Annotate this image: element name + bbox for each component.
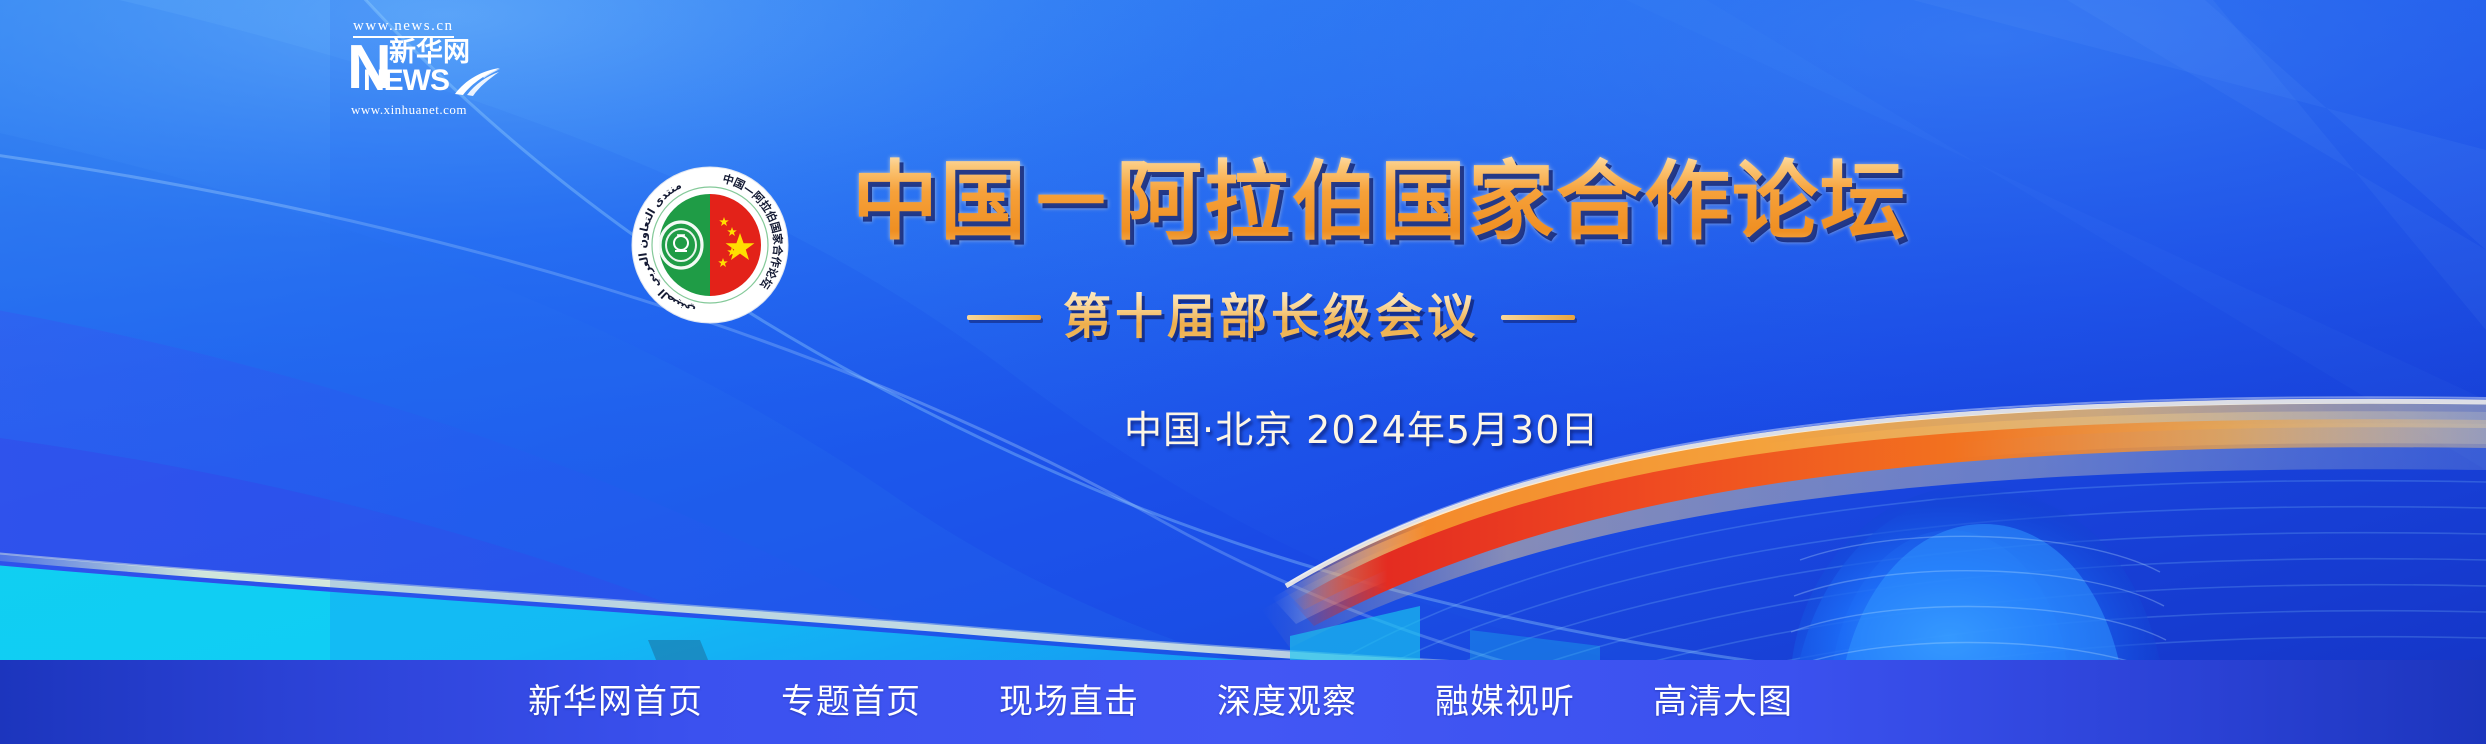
page-subtitle: 第十届部长级会议 — [1063, 288, 1479, 346]
subtitle-row: 第十届部长级会议 — [967, 288, 1575, 346]
nav-item-media-av[interactable]: 融媒视听 — [1435, 682, 1575, 722]
page-title: 中国－阿拉伯国家合作论坛 — [852, 150, 1908, 254]
logo-wordmark: N 新华网 NEWS — [347, 40, 497, 96]
navigation-items: 新华网首页 专题首页 现场直击 深度观察 融媒视听 高清大图 — [528, 660, 1793, 744]
xinhua-logo[interactable]: www.news.cn N 新华网 NEWS www.xinhuanet.com — [345, 18, 495, 123]
china-arab-forum-emblem-icon: 中国—阿拉伯国家合作论坛 منتدى التعاون العربي الصيني — [628, 163, 792, 327]
subtitle-dash-left — [967, 315, 1041, 320]
logo-swoosh-icon — [453, 68, 501, 96]
logo-bottom-url: www.xinhuanet.com — [351, 102, 467, 118]
nav-item-live-coverage[interactable]: 现场直击 — [999, 682, 1139, 722]
logo-chinese-name: 新华网 — [389, 38, 470, 66]
logo-english-name: NEWS — [363, 66, 449, 96]
event-location-date: 中国·北京 2024年5月30日 — [1124, 406, 1599, 454]
nav-item-in-depth[interactable]: 深度观察 — [1217, 682, 1357, 722]
nav-item-topic-home[interactable]: 专题首页 — [781, 682, 921, 722]
nav-item-hd-photos[interactable]: 高清大图 — [1653, 682, 1793, 722]
event-banner: www.news.cn N 新华网 NEWS www.xinhuanet.com… — [0, 0, 2486, 744]
navigation-bar: 新华网首页 专题首页 现场直击 深度观察 融媒视听 高清大图 — [0, 660, 2486, 744]
subtitle-dash-right — [1501, 315, 1575, 320]
nav-item-xinhua-home[interactable]: 新华网首页 — [528, 682, 703, 722]
